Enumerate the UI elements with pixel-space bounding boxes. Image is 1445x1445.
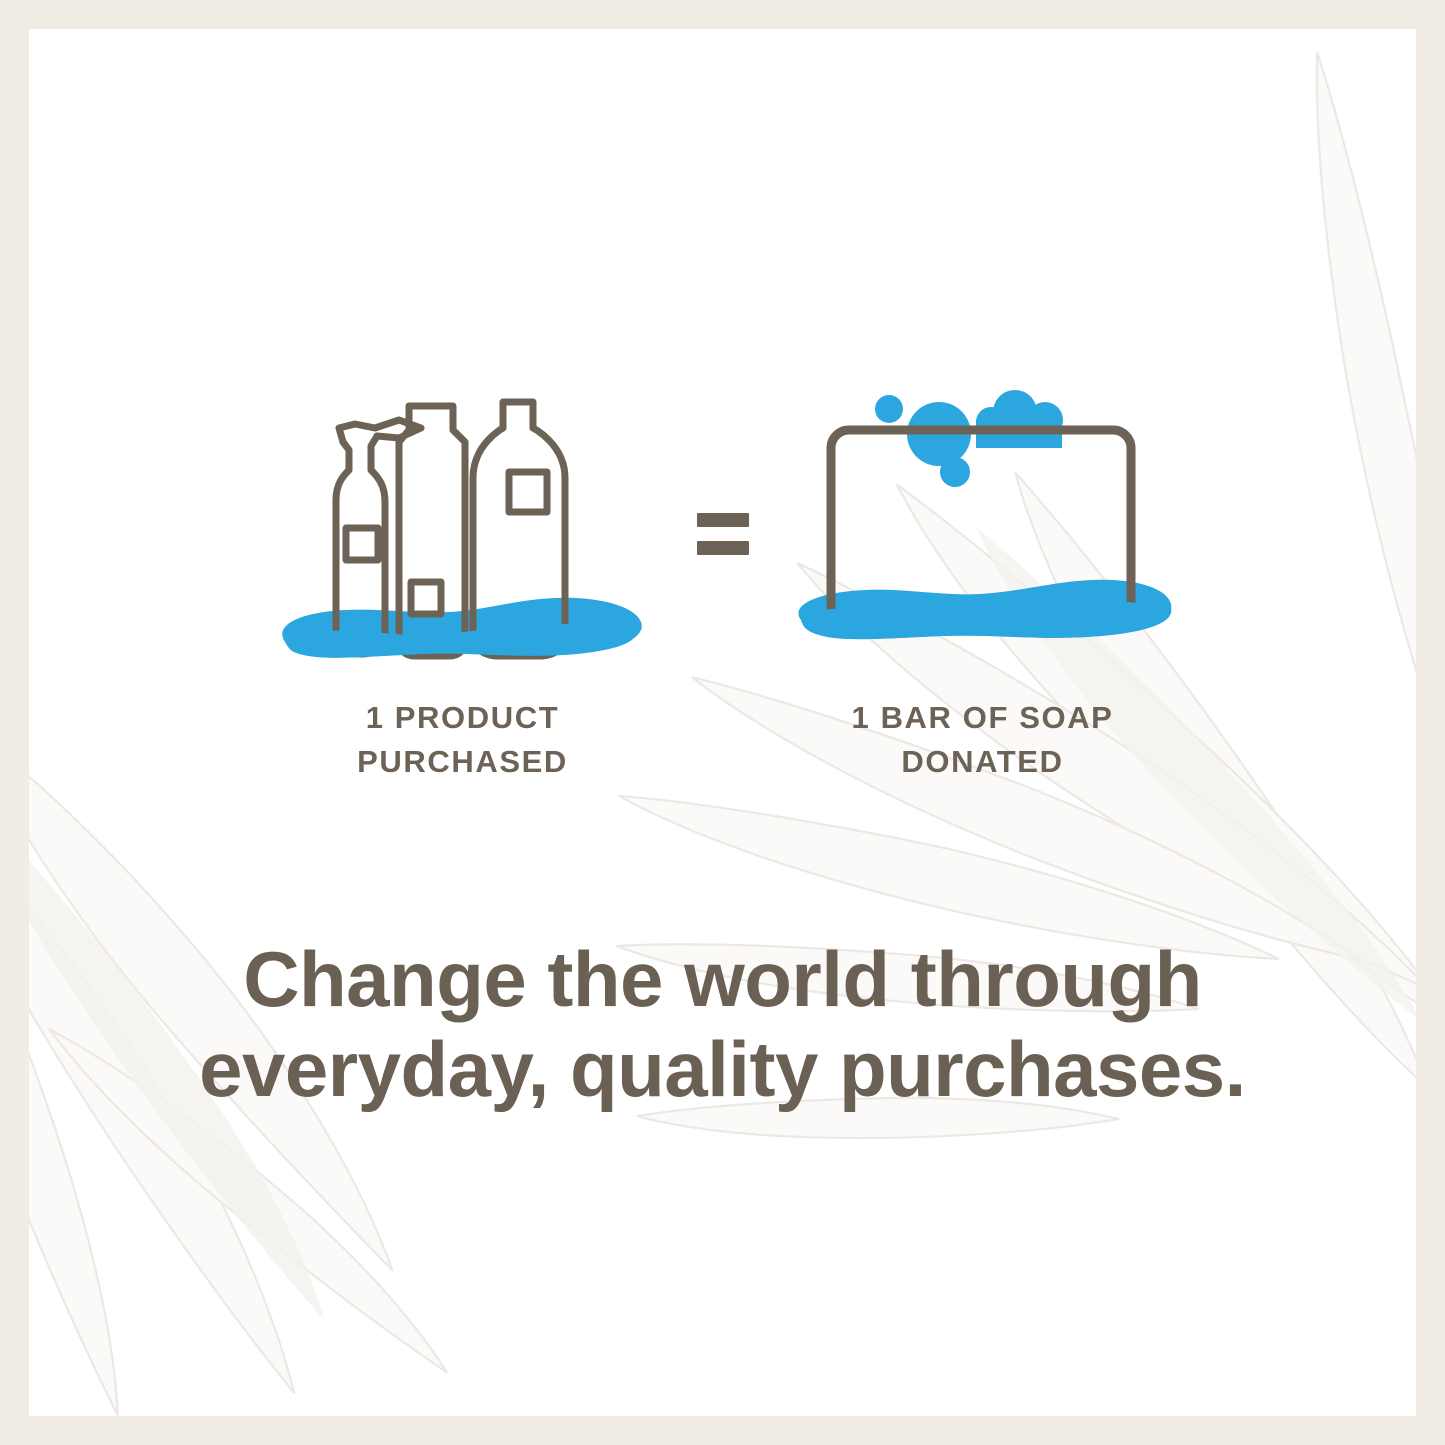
promo-graphic: 1 PRODUCT PURCHASED xyxy=(0,0,1445,1445)
three-bottles-icon xyxy=(263,384,663,674)
equation-left-caption: 1 PRODUCT PURCHASED xyxy=(357,696,568,784)
equation-right-column: 1 BAR OF SOAP DONATED xyxy=(783,384,1183,784)
bar-of-soap-icon xyxy=(783,384,1183,674)
equation-row: 1 PRODUCT PURCHASED xyxy=(29,384,1416,784)
equals-sign xyxy=(663,384,783,674)
equals-bar-bottom xyxy=(697,541,749,555)
equation-right-caption: 1 BAR OF SOAP DONATED xyxy=(852,696,1114,784)
equals-bar-top xyxy=(697,513,749,527)
promo-card: 1 PRODUCT PURCHASED xyxy=(29,29,1416,1416)
page-title: Change the world through everyday, quali… xyxy=(99,934,1346,1115)
equation-left-column: 1 PRODUCT PURCHASED xyxy=(263,384,663,784)
